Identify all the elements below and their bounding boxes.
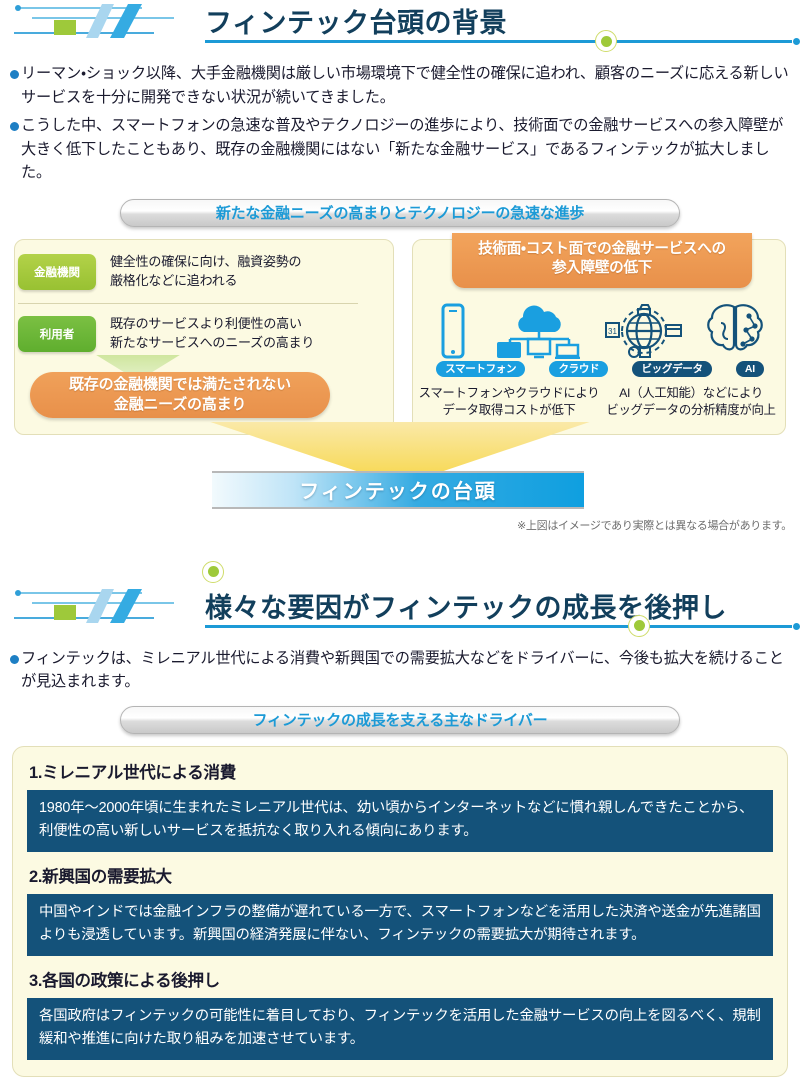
pill-heading-growth-drivers: フィンテックの成長を支える主なドライバー <box>120 706 680 734</box>
technology-icon-strip: 31 <box>424 297 776 359</box>
caption-ai-bigdata: AI（人工知能）などにより ビッグデータの分析精度が向上 <box>600 385 782 418</box>
tag-bigdata: ビッグデータ <box>632 361 711 377</box>
fintech-emergence-banner-label: フィンテックの台頭 <box>299 475 497 504</box>
smartphone-icon <box>436 303 470 359</box>
brain-ai-icon <box>705 301 765 359</box>
row-text-financial-institution: 健全性の確保に向け、融資姿勢の 厳格化などに追われる <box>110 253 301 291</box>
green-dot-marker <box>595 30 617 52</box>
driver-body-2: 中国やインドでは金融インフラの整備が遅れている一方で、スマートフォンなどを活用し… <box>27 894 773 956</box>
page-title: フィンテック台頭の背景 <box>205 1 507 40</box>
growth-bullet-list: フィンテックは、ミレニアル世代による消費や新興国での需要拡大などをドライバーに、… <box>10 647 792 694</box>
badge-financial-institution: 金融機関 <box>18 254 96 290</box>
page-title-growth: 様々な要因がフィンテックの成長を後押し <box>205 586 727 625</box>
fintech-emergence-diagram: 金融機関 健全性の確保に向け、融資姿勢の 厳格化などに追われる 利用者 既存のサ… <box>0 239 800 539</box>
section-header-growth: 様々な要因がフィンテックの成長を後押し <box>0 585 800 637</box>
unmet-needs-line2: 金融ニーズの高まり <box>114 395 246 415</box>
technology-caption-strip: スマートフォンやクラウドにより データ取得コストが低下 AI（人工知能）などによ… <box>418 385 782 418</box>
header-decoration-mark <box>14 0 204 48</box>
cloud-network-icon <box>493 301 581 359</box>
bullet-dot-icon <box>10 122 19 131</box>
tag-ai: AI <box>736 361 764 377</box>
bullet-text: フィンテックは、ミレニアル世代による消費や新興国での需要拡大などをドライバーに、… <box>21 647 792 694</box>
green-dot-marker-top <box>202 561 224 583</box>
driver-title-1: 1.ミレニアル世代による消費 <box>29 759 773 783</box>
badge-user: 利用者 <box>18 316 96 352</box>
driver-title-3: 3.各国の政策による後押し <box>29 967 773 991</box>
list-item: こうした中、スマートフォンの急速な普及やテクノロジーの進歩により、技術面での金融… <box>10 114 792 185</box>
title-underline-end-dot <box>793 38 800 45</box>
row-text-user: 既存のサービスより利便性の高い 新たなサービスへのニーズの高まり <box>110 315 314 353</box>
diagram-row-financial-institution: 金融機関 健全性の確保に向け、融資姿勢の 厳格化などに追われる <box>18 253 301 291</box>
caption-smartphone-cloud: スマートフォンやクラウドにより データ取得コストが低下 <box>418 385 600 418</box>
pill-heading-new-needs: 新たな金融ニーズの高まりとテクノロジーの急速な進歩 <box>120 199 680 227</box>
fintech-emergence-banner: フィンテックの台頭 <box>212 471 584 509</box>
bullet-text: こうした中、スマートフォンの急速な普及やテクノロジーの進歩により、技術面での金融… <box>21 114 792 185</box>
list-item: フィンテックは、ミレニアル世代による消費や新興国での需要拡大などをドライバーに、… <box>10 647 792 694</box>
unmet-needs-line1: 既存の金融機関では満たされない <box>69 375 291 395</box>
title-underline <box>205 625 792 628</box>
background-bullet-list: リーマン・ショック以降、大手金融機関は厳しい市場環境下で健全性の確保に追われ、顧… <box>10 62 792 185</box>
section-header-background: フィンテック台頭の背景 <box>0 0 800 52</box>
header-decoration-mark <box>14 585 204 633</box>
row-divider <box>18 303 358 304</box>
title-underline <box>205 40 792 43</box>
growth-drivers-card: 1.ミレニアル世代による消費 1980年～2000年頃に生まれたミレニアル世代は… <box>12 746 788 1077</box>
tag-smartphone: スマートフォン <box>436 361 525 377</box>
unmet-needs-callout: 既存の金融機関では満たされない 金融ニーズの高まり <box>30 372 330 418</box>
list-item: リーマン・ショック以降、大手金融機関は厳しい市場環境下で健全性の確保に追われ、顧… <box>10 62 792 109</box>
tag-cloud: クラウド <box>549 361 608 377</box>
green-dot-marker <box>628 615 650 637</box>
technology-tag-strip: スマートフォン クラウド ビッグデータ AI <box>424 361 776 377</box>
technology-barrier-line1: 技術面・コスト面での金融サービスへの <box>452 240 752 260</box>
driver-body-3: 各国政府はフィンテックの可能性に着目しており、フィンテックを活用した金融サービス… <box>27 998 773 1060</box>
technology-barrier-line2: 参入障壁の低下 <box>452 259 752 279</box>
technology-barrier-header: 技術面・コスト面での金融サービスへの 参入障壁の低下 <box>452 233 752 288</box>
diagram-footnote: ※上図はイメージであり実際とは異なる場合があります。 <box>517 517 792 533</box>
bullet-text: リーマン・ショック以降、大手金融機関は厳しい市場環境下で健全性の確保に追われ、顧… <box>21 62 792 109</box>
driver-body-1: 1980年～2000年頃に生まれたミレニアル世代は、幼い頃からインターネットなど… <box>27 790 773 852</box>
globe-data-icon: 31 <box>604 301 682 359</box>
svg-text:31: 31 <box>608 327 617 336</box>
driver-title-2: 2.新興国の需要拡大 <box>29 863 773 887</box>
bullet-dot-icon <box>10 655 19 664</box>
bullet-dot-icon <box>10 70 19 79</box>
diagram-row-user: 利用者 既存のサービスより利便性の高い 新たなサービスへのニーズの高まり <box>18 315 314 353</box>
title-underline-end-dot <box>793 623 800 630</box>
